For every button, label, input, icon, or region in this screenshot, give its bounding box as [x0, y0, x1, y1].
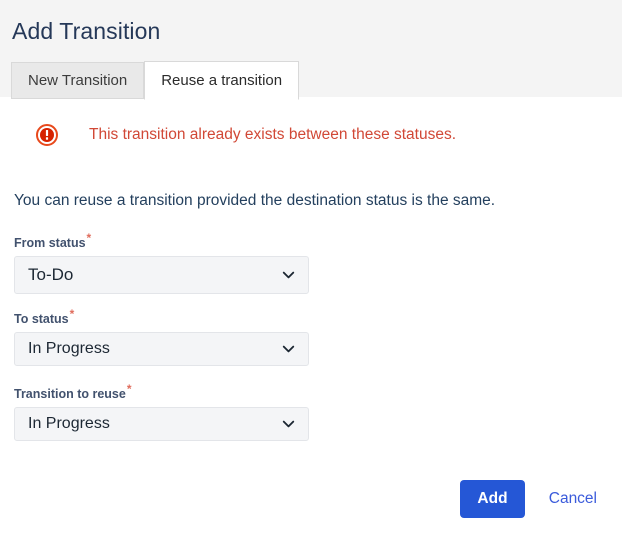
required-asterisk: *	[127, 382, 132, 396]
tab-new-transition-label: New Transition	[28, 72, 127, 89]
required-asterisk: *	[87, 231, 92, 245]
field-transition-to-reuse: Transition to reuse* In Progress	[14, 383, 309, 441]
page-title: Add Transition	[12, 17, 160, 45]
field-to-status: To status* In Progress	[14, 308, 309, 366]
error-circle-icon	[36, 124, 58, 146]
tab-reuse-transition[interactable]: Reuse a transition	[144, 61, 299, 100]
error-banner: This transition already exists between t…	[0, 124, 456, 146]
to-status-select[interactable]: In Progress	[14, 332, 309, 366]
cancel-button[interactable]: Cancel	[549, 490, 597, 508]
field-from-status-label: From status*	[14, 232, 309, 251]
field-transition-to-reuse-label-text: Transition to reuse	[14, 387, 126, 401]
add-button[interactable]: Add	[460, 480, 524, 518]
field-transition-to-reuse-label: Transition to reuse*	[14, 383, 309, 402]
field-from-status: From status* To-Do	[14, 232, 309, 294]
transition-to-reuse-selected-value: In Progress	[28, 415, 110, 433]
to-status-selected-value: In Progress	[28, 340, 110, 358]
from-status-select[interactable]: To-Do	[14, 256, 309, 294]
from-status-selected-value: To-Do	[28, 265, 73, 285]
tab-strip: New Transition Reuse a transition	[11, 61, 299, 99]
transition-to-reuse-select[interactable]: In Progress	[14, 407, 309, 441]
dialog-actions: Add Cancel	[0, 479, 622, 519]
field-to-status-label: To status*	[14, 308, 309, 327]
from-status-select-wrapper: To-Do	[14, 256, 309, 294]
error-message: This transition already exists between t…	[89, 124, 456, 146]
tab-new-transition[interactable]: New Transition	[11, 62, 144, 99]
field-to-status-label-text: To status	[14, 312, 69, 326]
to-status-select-wrapper: In Progress	[14, 332, 309, 366]
field-from-status-label-text: From status	[14, 236, 86, 250]
tab-reuse-transition-label: Reuse a transition	[161, 72, 282, 89]
required-asterisk: *	[70, 307, 75, 321]
dialog-description: You can reuse a transition provided the …	[14, 190, 495, 212]
transition-to-reuse-select-wrapper: In Progress	[14, 407, 309, 441]
